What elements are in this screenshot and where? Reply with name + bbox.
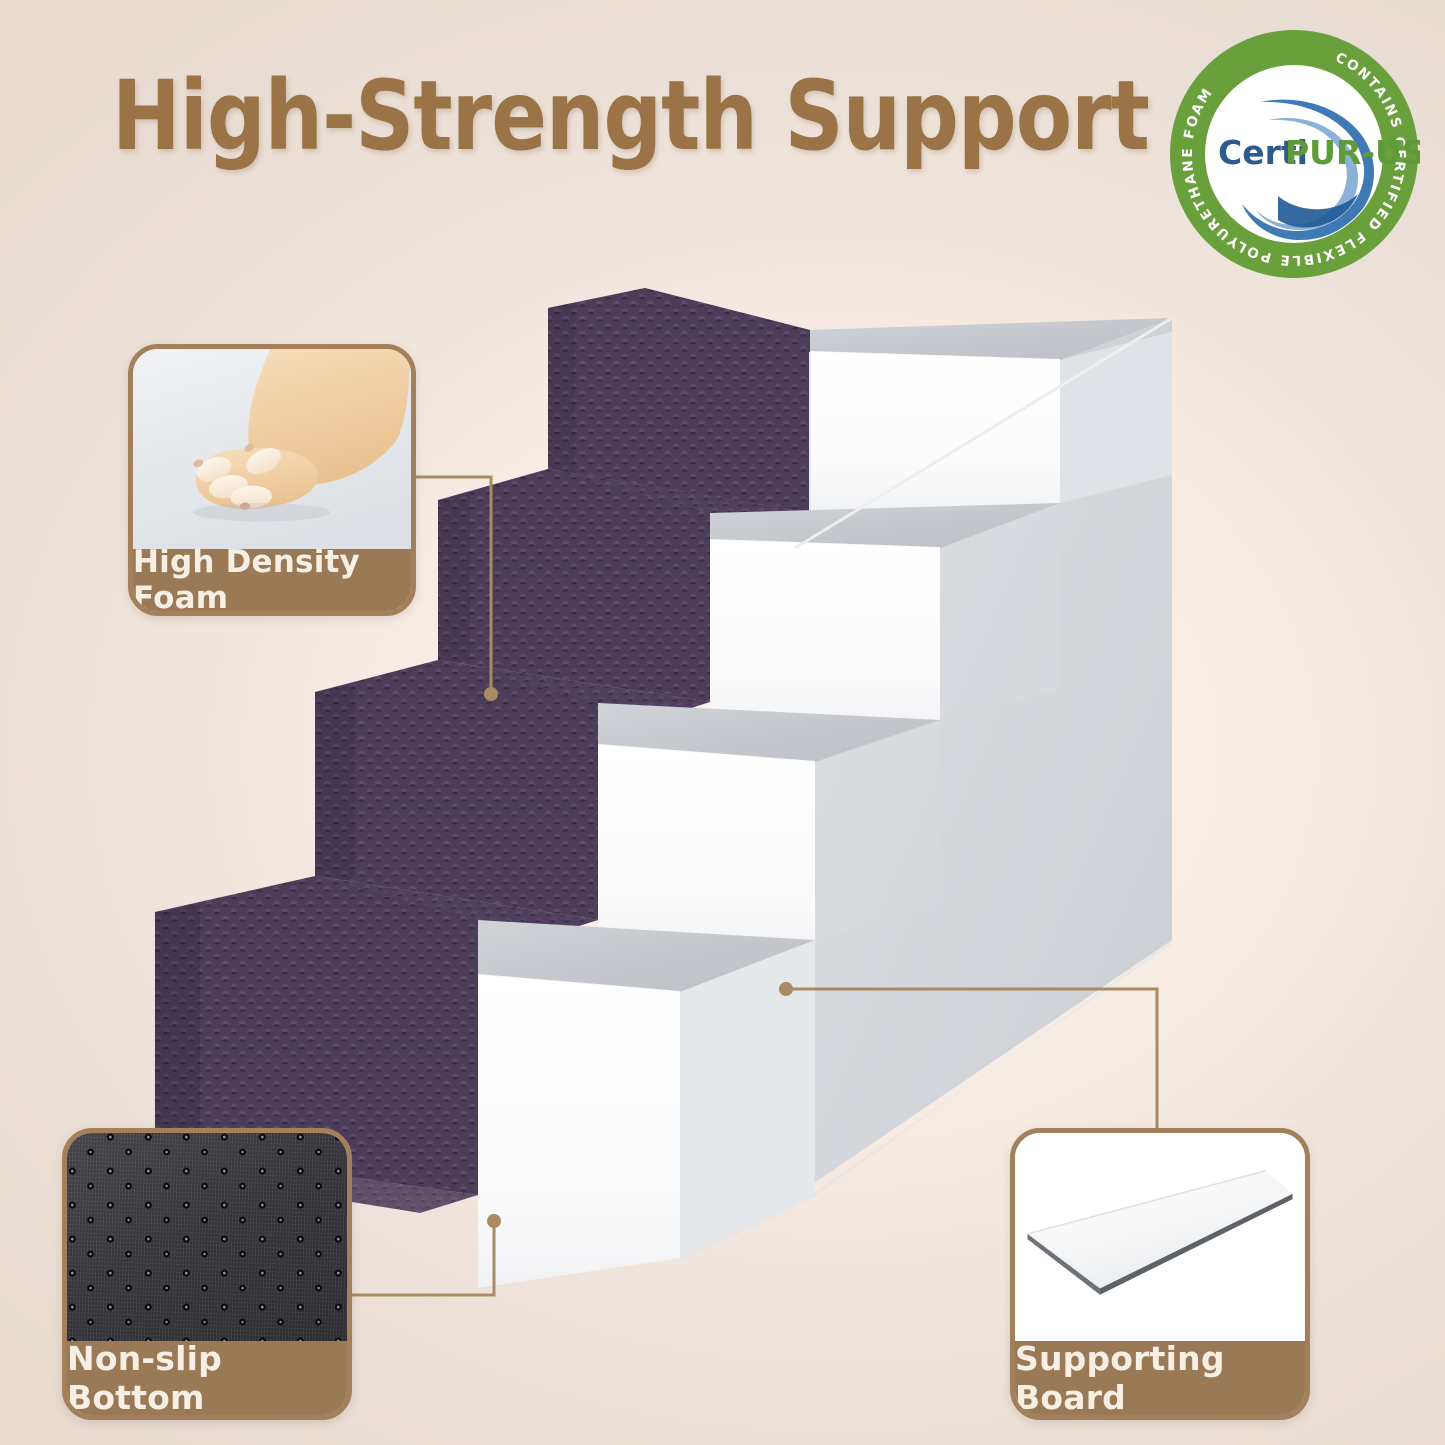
callout-label-supporting-board: Supporting Board xyxy=(1015,1341,1305,1415)
anti-slip-dotted-fabric xyxy=(67,1133,347,1341)
dog-paw-photo xyxy=(133,349,411,549)
badge-wordmark-purus: PUR-US xyxy=(1285,133,1420,172)
badge-registered-mark: ® xyxy=(1386,137,1399,152)
callout-non-slip-bottom[interactable]: Non-slip Bottom xyxy=(62,1128,352,1420)
leader-endpoint-board xyxy=(779,982,793,996)
infographic-canvas: High-Strength Support CONTAINS CERTIFIED… xyxy=(0,0,1445,1445)
callout-high-density-foam[interactable]: High Density Foam xyxy=(128,344,416,616)
callout-label-high-density-foam: High Density Foam xyxy=(133,549,411,611)
callout-label-non-slip-bottom: Non-slip Bottom xyxy=(67,1341,347,1415)
flat-white-board-illustration xyxy=(1015,1133,1305,1341)
leader-endpoint-nonslip xyxy=(487,1214,501,1228)
callout-supporting-board[interactable]: Supporting Board xyxy=(1010,1128,1310,1420)
certipur-us-badge: CONTAINS CERTIFIED FLEXIBLE POLYURETHANE… xyxy=(1168,28,1420,280)
page-title: High-Strength Support xyxy=(112,62,1100,170)
leader-endpoint-foam xyxy=(484,687,498,701)
